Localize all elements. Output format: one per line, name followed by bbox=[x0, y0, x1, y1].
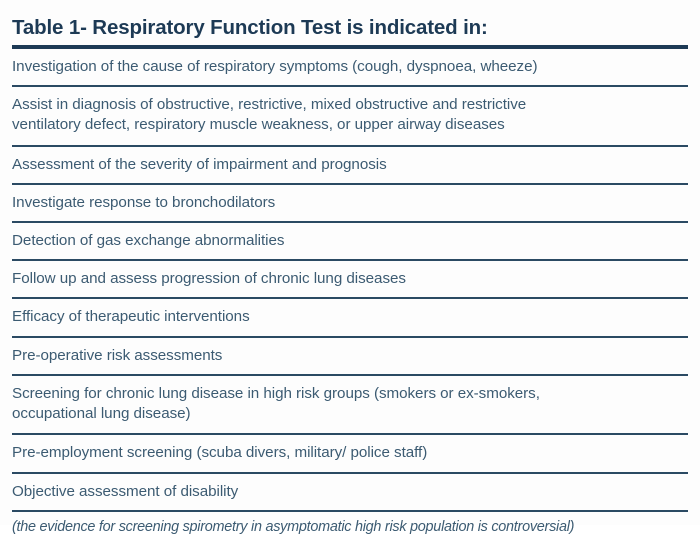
table-row: Pre-operative risk assessments bbox=[12, 338, 688, 374]
table-1-card: Table 1- Respiratory Function Test is in… bbox=[0, 0, 700, 525]
table-row: Detection of gas exchange abnormalities bbox=[12, 223, 688, 259]
table-row-line: Assessment of the severity of impairment… bbox=[12, 155, 688, 175]
table-title: Table 1- Respiratory Function Test is in… bbox=[12, 0, 688, 45]
table-row: Investigate response to bronchodilators bbox=[12, 185, 688, 221]
table-row-line: Investigate response to bronchodilators bbox=[12, 193, 688, 213]
table-row-line: Pre-employment screening (scuba divers, … bbox=[12, 443, 688, 463]
table-row: Assist in diagnosis of obstructive, rest… bbox=[12, 87, 688, 144]
table-row: Efficacy of therapeutic interventions bbox=[12, 299, 688, 335]
table-row-line: Investigation of the cause of respirator… bbox=[12, 57, 688, 77]
table-row-line: Objective assessment of disability bbox=[12, 482, 688, 502]
table-row: Pre-employment screening (scuba divers, … bbox=[12, 435, 688, 471]
table-content: Table 1- Respiratory Function Test is in… bbox=[12, 0, 688, 543]
table-row: (the evidence for screening spirometry i… bbox=[12, 512, 688, 543]
table-row-line: ventilatory defect, respiratory muscle w… bbox=[12, 115, 688, 135]
table-rows: Investigation of the cause of respirator… bbox=[12, 49, 688, 543]
table-row-line: (the evidence for screening spirometry i… bbox=[12, 518, 688, 537]
table-row-line: Pre-operative risk assessments bbox=[12, 346, 688, 366]
table-row-line: Assist in diagnosis of obstructive, rest… bbox=[12, 95, 688, 115]
table-row: Assessment of the severity of impairment… bbox=[12, 147, 688, 183]
table-row-line: Screening for chronic lung disease in hi… bbox=[12, 384, 688, 404]
table-row: Investigation of the cause of respirator… bbox=[12, 49, 688, 85]
table-row: Follow up and assess progression of chro… bbox=[12, 261, 688, 297]
table-row-line: Efficacy of therapeutic interventions bbox=[12, 307, 688, 327]
table-row: Objective assessment of disability bbox=[12, 474, 688, 510]
table-row-line: Follow up and assess progression of chro… bbox=[12, 269, 688, 289]
table-row-line: Detection of gas exchange abnormalities bbox=[12, 231, 688, 251]
table-row: Screening for chronic lung disease in hi… bbox=[12, 376, 688, 433]
table-row-line: occupational lung disease) bbox=[12, 404, 688, 424]
